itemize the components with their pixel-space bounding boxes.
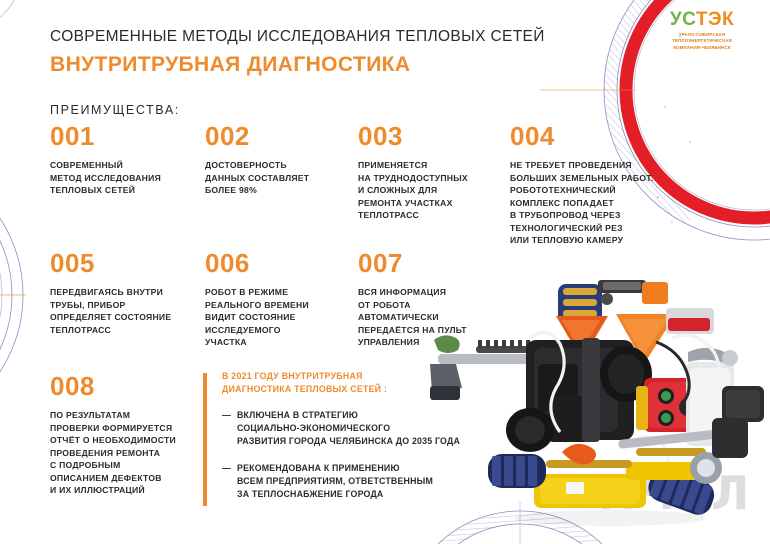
- advantage-number: 004: [510, 123, 690, 149]
- advantage-item-006: 006 РОБОТ В РЕЖИМЕ РЕАЛЬНОГО ВРЕМЕНИ ВИД…: [205, 250, 355, 349]
- advantage-item-001: 001 СОВРЕМЕННЫЙ МЕТОД ИССЛЕДОВАНИЯ ТЕПЛО…: [50, 123, 205, 197]
- panel-bullet-text: ВКЛЮЧЕНА В СТРАТЕГИЮ СОЦИАЛЬНО-ЭКОНОМИЧЕ…: [237, 409, 460, 449]
- advantage-number: 006: [205, 250, 355, 276]
- dash-icon: —: [222, 409, 237, 449]
- dash-icon: —: [222, 462, 237, 502]
- advantage-item-005: 005 ПЕРЕДВИГАЯСЬ ВНУТРИ ТРУБЫ, ПРИБОР ОП…: [50, 250, 210, 336]
- advantage-number: 008: [50, 373, 210, 399]
- advantage-text: ПЕРЕДВИГАЯСЬ ВНУТРИ ТРУБЫ, ПРИБОР ОПРЕДЕ…: [50, 286, 210, 336]
- logo-wordmark: УСТЭК: [648, 10, 756, 29]
- advantage-number: 005: [50, 250, 210, 276]
- logo-wordmark-part2: ТЭК: [696, 9, 734, 30]
- robot-boom-arm: [430, 335, 538, 400]
- advantage-text: ПРИМЕНЯЕТСЯ НА ТРУДНОДОСТУПНЫХ И СЛОЖНЫХ…: [358, 159, 513, 222]
- advantage-item-003: 003 ПРИМЕНЯЕТСЯ НА ТРУДНОДОСТУПНЫХ И СЛО…: [358, 123, 513, 222]
- poster-subtitle: СОВРЕМЕННЫЕ МЕТОДЫ ИССЛЕДОВАНИЯ ТЕПЛОВЫХ…: [50, 28, 545, 46]
- company-logo[interactable]: УСТЭК УРАЛО-СИБИРСКАЯ ТЕПЛОЭНЕРГЕТИЧЕСКА…: [648, 10, 756, 51]
- advantage-item-008: 008 ПО РЕЗУЛЬТАТАМ ПРОВЕРКИ ФОРМИРУЕТСЯ …: [50, 373, 210, 497]
- advantage-text: СОВРЕМЕННЫЙ МЕТОД ИССЛЕДОВАНИЯ ТЕПЛОВЫХ …: [50, 159, 205, 197]
- poster-header: СОВРЕМЕННЫЕ МЕТОДЫ ИССЛЕДОВАНИЯ ТЕПЛОВЫХ…: [50, 28, 545, 77]
- advantage-number: 007: [358, 250, 523, 276]
- advantage-item-004: 004 НЕ ТРЕБУЕТ ПРОВЕДЕНИЯ БОЛЬШИХ ЗЕМЕЛЬ…: [510, 123, 690, 247]
- robot-main-body: [506, 338, 652, 452]
- advantage-number: 001: [50, 123, 205, 149]
- advantage-item-002: 002 ДОСТОВЕРНОСТЬ ДАННЫХ СОСТАВЛЯЕТ БОЛЕ…: [205, 123, 360, 197]
- advantage-text: РОБОТ В РЕЖИМЕ РЕАЛЬНОГО ВРЕМЕНИ ВИДИТ С…: [205, 286, 355, 349]
- advantage-text: НЕ ТРЕБУЕТ ПРОВЕДЕНИЯ БОЛЬШИХ ЗЕМЕЛЬНЫХ …: [510, 159, 690, 247]
- logo-wordmark-part1: УС: [670, 9, 696, 30]
- inspection-robot-photo: [430, 278, 770, 540]
- page-title: ВНУТРИТРУБНАЯ ДИАГНОСТИКА: [50, 53, 545, 77]
- advantage-text: ПО РЕЗУЛЬТАТАМ ПРОВЕРКИ ФОРМИРУЕТСЯ ОТЧЁ…: [50, 409, 210, 497]
- advantages-section-label: ПРЕИМУЩЕСТВА:: [50, 103, 180, 117]
- panel-accent-bar: [203, 373, 207, 506]
- advantage-number: 003: [358, 123, 513, 149]
- panel-bullet-text: РЕКОМЕНДОВАНА К ПРИМЕНЕНИЮ ВСЕМ ПРЕДПРИЯ…: [237, 462, 433, 502]
- logo-subtitle: УРАЛО-СИБИРСКАЯ ТЕПЛОЭНЕРГЕТИЧЕСКАЯ КОМП…: [648, 32, 756, 51]
- poster-canvas: СОВРЕМЕННЫЕ МЕТОДЫ ИССЛЕДОВАНИЯ ТЕПЛОВЫХ…: [0, 0, 770, 544]
- advantage-text: ДОСТОВЕРНОСТЬ ДАННЫХ СОСТАВЛЯЕТ БОЛЕЕ 98…: [205, 159, 360, 197]
- robot-track-left: [488, 454, 546, 488]
- advantage-number: 002: [205, 123, 360, 149]
